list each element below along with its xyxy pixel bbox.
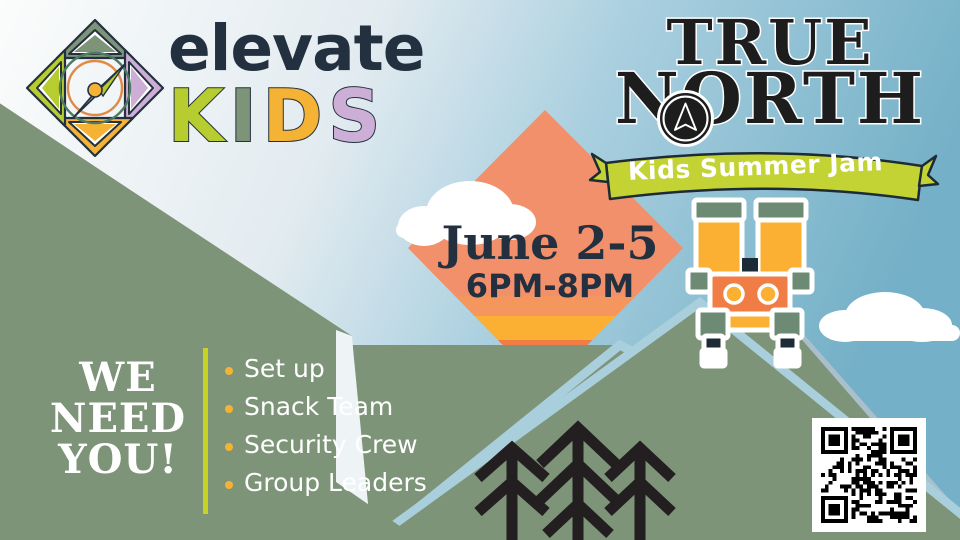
event-date: June 2-5 xyxy=(420,220,680,266)
qr-code[interactable] xyxy=(812,418,926,532)
event-date-block: June 2-5 6PM-8PM xyxy=(420,220,680,302)
cta-line-2: NEED xyxy=(48,399,188,440)
list-item: Security Crew xyxy=(225,432,515,457)
event-time: 6PM-8PM xyxy=(420,270,680,302)
cta-line-1: WE xyxy=(48,358,188,399)
vertical-divider xyxy=(203,348,208,514)
list-item: Group Leaders xyxy=(225,470,515,495)
list-item: Set up xyxy=(225,356,515,381)
flyer-canvas: elevate KIDS TRUE NORTH Kids Summer Jam xyxy=(0,0,960,540)
cta-line-3: YOU! xyxy=(48,440,188,481)
call-to-action: WE NEED YOU! xyxy=(48,358,188,480)
list-item: Snack Team xyxy=(225,394,515,419)
roles-list: Set up Snack Team Security Crew Group Le… xyxy=(225,356,515,508)
qr-code-image[interactable] xyxy=(821,427,917,523)
